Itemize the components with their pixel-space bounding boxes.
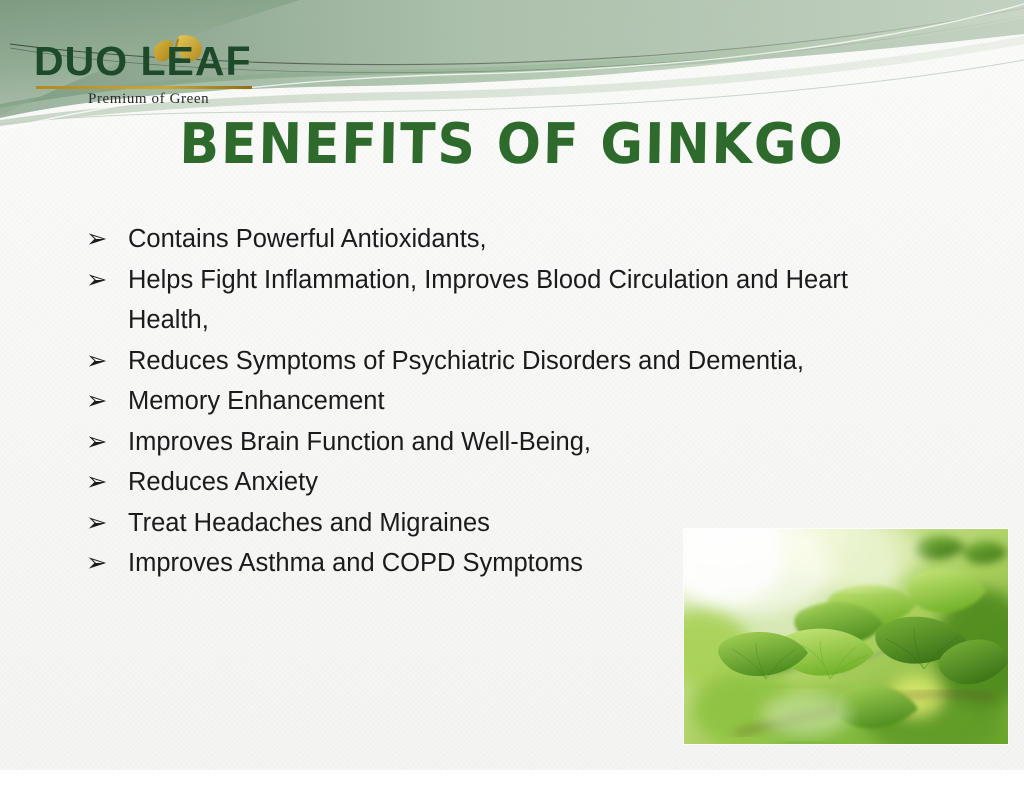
list-item-label: Treat Headaches and Migraines [128,509,490,537]
bullet-arrow-icon: ➢ [86,260,112,301]
list-item: ➢ Helps Fight Inflammation, Improves Blo… [86,260,888,341]
page-title: BENEFITS OF GINKGO [35,112,988,177]
brand-logo: DUO LEAF Premium of Green [34,18,304,106]
bullet-arrow-icon: ➢ [86,381,112,422]
list-item: ➢ Improves Brain Function and Well-Being… [86,422,888,463]
list-item-label: Contains Powerful Antioxidants, [128,225,487,253]
presentation-slide: DUO LEAF Premium of Green BENEFITS OF GI… [0,0,1024,770]
bullet-arrow-icon: ➢ [86,462,112,503]
list-item: ➢ Memory Enhancement [86,381,888,422]
list-item-label: Memory Enhancement [128,387,385,415]
logo-underline-rule [36,86,252,89]
logo-wordmark: DUO LEAF [34,38,252,85]
bullet-arrow-icon: ➢ [86,219,112,260]
list-item: ➢ Contains Powerful Antioxidants, [86,219,888,260]
bullet-arrow-icon: ➢ [86,422,112,463]
bullet-arrow-icon: ➢ [86,543,112,584]
logo-tagline: Premium of Green [88,91,209,108]
list-item: ➢ Reduces Symptoms of Psychiatric Disord… [86,341,888,382]
ginkgo-leaves-photo [684,529,1008,744]
bullet-arrow-icon: ➢ [86,503,112,544]
list-item-label: Reduces Symptoms of Psychiatric Disorder… [128,347,804,375]
list-item-label: Improves Asthma and COPD Symptoms [128,549,583,577]
list-item: ➢ Reduces Anxiety [86,462,888,503]
list-item-label: Reduces Anxiety [128,468,318,496]
list-item-label: Improves Brain Function and Well-Being, [128,428,591,456]
list-item-label: Helps Fight Inflammation, Improves Blood… [128,266,848,335]
bullet-arrow-icon: ➢ [86,341,112,382]
